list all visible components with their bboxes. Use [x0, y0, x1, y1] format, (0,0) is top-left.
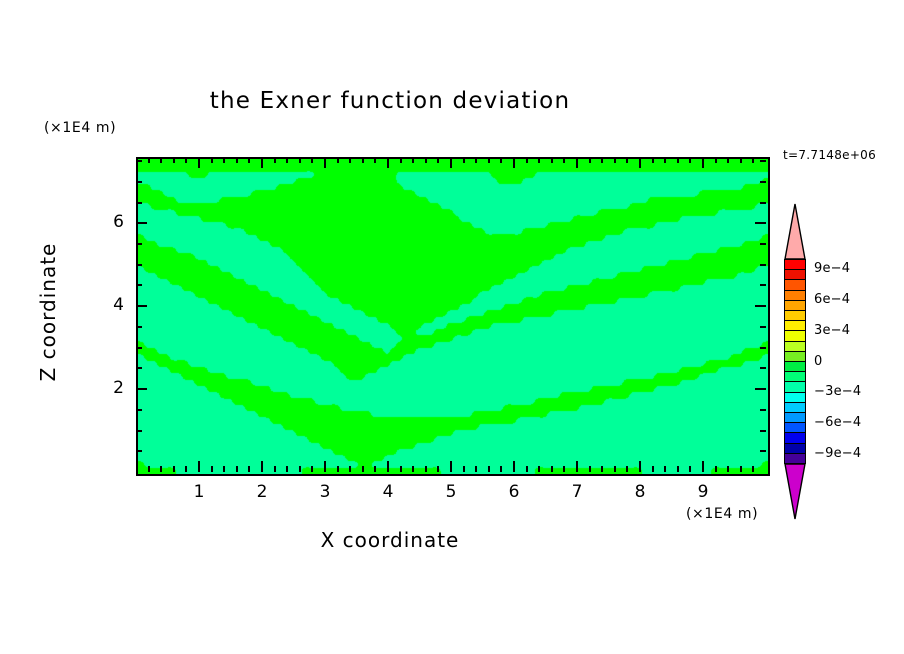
colorbar-band	[785, 433, 805, 443]
x-axis-minor-tick	[475, 157, 477, 163]
y-axis-minor-tick	[760, 243, 766, 245]
x-axis-minor-tick	[299, 157, 301, 163]
x-axis-major-tick	[513, 461, 515, 472]
x-axis-minor-tick	[236, 157, 238, 163]
x-axis-tick-label: 8	[620, 482, 660, 502]
x-axis-minor-tick	[488, 466, 490, 472]
x-axis-tick-label: 2	[242, 482, 282, 502]
x-axis-minor-tick	[248, 157, 250, 163]
x-axis-major-tick	[513, 157, 515, 168]
colorbar-band	[785, 270, 805, 280]
x-axis-tick-label: 5	[431, 482, 471, 502]
contour-field	[138, 159, 768, 474]
x-axis-minor-tick	[425, 157, 427, 163]
y-axis-minor-tick	[136, 160, 142, 162]
x-axis-title: X coordinate	[0, 528, 780, 552]
x-axis-minor-tick	[362, 466, 364, 472]
x-axis-minor-tick	[551, 157, 553, 163]
x-axis-minor-tick	[689, 466, 691, 472]
x-axis-tick-label: 6	[494, 482, 534, 502]
x-axis-minor-tick	[299, 466, 301, 472]
colorbar-band	[785, 454, 805, 463]
y-axis-major-tick	[136, 305, 147, 307]
x-axis-minor-tick	[475, 466, 477, 472]
x-axis-minor-tick	[626, 157, 628, 163]
x-axis-minor-tick	[185, 157, 187, 163]
colorbar-under-arrow-icon	[784, 463, 806, 520]
x-axis-minor-tick	[211, 157, 213, 163]
colorbar: 9e−46e−43e−40−3e−4−6e−4−9e−4	[784, 203, 806, 519]
x-axis-minor-tick	[437, 157, 439, 163]
x-axis-minor-tick	[601, 157, 603, 163]
x-axis-minor-tick	[311, 157, 313, 163]
x-axis-major-tick	[639, 157, 641, 168]
y-axis-minor-tick	[760, 450, 766, 452]
x-axis-minor-tick	[677, 466, 679, 472]
x-axis-minor-tick	[286, 157, 288, 163]
x-axis-major-tick	[261, 461, 263, 472]
x-axis-major-tick	[702, 157, 704, 168]
x-axis-minor-tick	[173, 466, 175, 472]
x-axis-minor-tick	[727, 157, 729, 163]
x-axis-minor-tick	[160, 157, 162, 163]
x-axis-minor-tick	[500, 466, 502, 472]
x-axis-minor-tick	[715, 157, 717, 163]
time-annotation: t=7.7148e+06	[783, 148, 876, 162]
y-axis-minor-tick	[760, 430, 766, 432]
colorbar-band	[785, 362, 805, 372]
x-axis-minor-tick	[538, 466, 540, 472]
x-axis-minor-tick	[148, 157, 150, 163]
x-axis-minor-tick	[362, 157, 364, 163]
y-axis-major-tick	[136, 388, 147, 390]
x-axis-minor-tick	[526, 157, 528, 163]
x-axis-minor-tick	[463, 466, 465, 472]
x-axis-minor-tick	[715, 466, 717, 472]
x-axis-minor-tick	[652, 157, 654, 163]
colorbar-band	[785, 382, 805, 392]
y-axis-minor-tick	[760, 367, 766, 369]
x-axis-minor-tick	[173, 157, 175, 163]
x-axis-minor-tick	[538, 157, 540, 163]
colorbar-band	[785, 311, 805, 321]
colorbar-tick-label: −3e−4	[814, 384, 861, 399]
x-axis-tick-label: 4	[368, 482, 408, 502]
colorbar-band	[785, 423, 805, 433]
y-axis-major-tick	[136, 222, 147, 224]
y-axis-minor-tick	[136, 409, 142, 411]
x-axis-minor-tick	[185, 466, 187, 472]
x-axis-major-tick	[198, 461, 200, 472]
x-axis-minor-tick	[248, 466, 250, 472]
x-axis-minor-tick	[311, 466, 313, 472]
x-axis-minor-tick	[563, 157, 565, 163]
colorbar-band	[785, 321, 805, 331]
x-axis-unit-label: (×1E4 m)	[686, 506, 758, 522]
x-axis-minor-tick	[400, 466, 402, 472]
contour-plot-area	[136, 157, 770, 476]
x-axis-minor-tick	[740, 466, 742, 472]
colorbar-tick-label: 9e−4	[814, 261, 850, 276]
y-axis-minor-tick	[760, 347, 766, 349]
y-axis-minor-tick	[136, 450, 142, 452]
x-axis-minor-tick	[589, 157, 591, 163]
x-axis-tick-label: 9	[683, 482, 723, 502]
x-axis-tick-label: 1	[179, 482, 219, 502]
x-axis-minor-tick	[337, 157, 339, 163]
y-axis-minor-tick	[136, 347, 142, 349]
x-axis-minor-tick	[412, 466, 414, 472]
x-axis-minor-tick	[626, 466, 628, 472]
x-axis-major-tick	[576, 461, 578, 472]
x-axis-minor-tick	[614, 157, 616, 163]
x-axis-minor-tick	[374, 466, 376, 472]
x-axis-major-tick	[702, 461, 704, 472]
x-axis-major-tick	[324, 461, 326, 472]
colorbar-band	[785, 393, 805, 403]
y-axis-minor-tick	[760, 160, 766, 162]
y-axis-minor-tick	[760, 202, 766, 204]
x-axis-minor-tick	[614, 466, 616, 472]
y-axis-minor-tick	[760, 264, 766, 266]
x-axis-major-tick	[387, 157, 389, 168]
colorbar-band	[785, 331, 805, 341]
y-axis-minor-tick	[136, 202, 142, 204]
colorbar-tick-label: 3e−4	[814, 323, 850, 338]
y-axis-minor-tick	[136, 284, 142, 286]
colorbar-over-arrow-icon	[784, 203, 806, 260]
x-axis-minor-tick	[337, 466, 339, 472]
colorbar-tick-label: −9e−4	[814, 446, 861, 461]
y-axis-minor-tick	[760, 284, 766, 286]
y-axis-minor-tick	[136, 326, 142, 328]
x-axis-minor-tick	[463, 157, 465, 163]
y-axis-major-tick	[755, 222, 766, 224]
colorbar-tick-label: −6e−4	[814, 415, 861, 430]
y-axis-minor-tick	[136, 181, 142, 183]
y-axis-minor-tick	[760, 181, 766, 183]
page-title: the Exner function deviation	[0, 88, 780, 114]
y-axis-minor-tick	[760, 326, 766, 328]
colorbar-band	[785, 260, 805, 270]
x-axis-tick-label: 7	[557, 482, 597, 502]
colorbar-bands	[784, 259, 806, 464]
x-axis-minor-tick	[727, 466, 729, 472]
x-axis-tick-label: 3	[305, 482, 345, 502]
x-axis-minor-tick	[664, 466, 666, 472]
x-axis-minor-tick	[400, 157, 402, 163]
y-axis-major-tick	[755, 388, 766, 390]
x-axis-minor-tick	[274, 157, 276, 163]
x-axis-minor-tick	[500, 157, 502, 163]
x-axis-minor-tick	[752, 157, 754, 163]
x-axis-major-tick	[198, 157, 200, 168]
x-axis-minor-tick	[589, 466, 591, 472]
x-axis-minor-tick	[211, 466, 213, 472]
colorbar-band	[785, 372, 805, 382]
x-axis-minor-tick	[526, 466, 528, 472]
x-axis-minor-tick	[664, 157, 666, 163]
colorbar-band	[785, 352, 805, 362]
x-axis-major-tick	[324, 157, 326, 168]
x-axis-minor-tick	[689, 157, 691, 163]
x-axis-minor-tick	[752, 466, 754, 472]
x-axis-minor-tick	[412, 157, 414, 163]
y-axis-tick-label: 2	[94, 378, 124, 398]
y-axis-minor-tick	[136, 243, 142, 245]
x-axis-minor-tick	[563, 466, 565, 472]
figure-canvas: the Exner function deviation (×1E4 m) (×…	[0, 0, 904, 654]
x-axis-minor-tick	[274, 466, 276, 472]
y-axis-title: Z coordinate	[36, 202, 60, 422]
colorbar-band	[785, 413, 805, 423]
x-axis-major-tick	[576, 157, 578, 168]
y-axis-unit-label: (×1E4 m)	[44, 120, 116, 136]
x-axis-minor-tick	[148, 466, 150, 472]
x-axis-minor-tick	[349, 157, 351, 163]
x-axis-minor-tick	[488, 157, 490, 163]
colorbar-tick-label: 6e−4	[814, 292, 850, 307]
colorbar-band	[785, 342, 805, 352]
x-axis-minor-tick	[374, 157, 376, 163]
x-axis-major-tick	[450, 461, 452, 472]
x-axis-major-tick	[261, 157, 263, 168]
x-axis-minor-tick	[223, 157, 225, 163]
x-axis-minor-tick	[349, 466, 351, 472]
x-axis-minor-tick	[652, 466, 654, 472]
x-axis-minor-tick	[601, 466, 603, 472]
colorbar-band	[785, 403, 805, 413]
x-axis-minor-tick	[677, 157, 679, 163]
colorbar-band	[785, 444, 805, 454]
y-axis-minor-tick	[136, 264, 142, 266]
colorbar-band	[785, 291, 805, 301]
x-axis-minor-tick	[236, 466, 238, 472]
colorbar-band	[785, 301, 805, 311]
y-axis-minor-tick	[136, 367, 142, 369]
y-axis-tick-label: 4	[94, 295, 124, 315]
x-axis-minor-tick	[437, 466, 439, 472]
x-axis-minor-tick	[551, 466, 553, 472]
y-axis-minor-tick	[136, 430, 142, 432]
colorbar-band	[785, 280, 805, 290]
x-axis-major-tick	[387, 461, 389, 472]
x-axis-major-tick	[639, 461, 641, 472]
y-axis-tick-label: 6	[94, 212, 124, 232]
x-axis-minor-tick	[425, 466, 427, 472]
x-axis-minor-tick	[740, 157, 742, 163]
y-axis-major-tick	[755, 305, 766, 307]
x-axis-major-tick	[450, 157, 452, 168]
colorbar-tick-label: 0	[814, 354, 822, 369]
x-axis-minor-tick	[160, 466, 162, 472]
x-axis-minor-tick	[286, 466, 288, 472]
x-axis-minor-tick	[223, 466, 225, 472]
y-axis-minor-tick	[760, 409, 766, 411]
